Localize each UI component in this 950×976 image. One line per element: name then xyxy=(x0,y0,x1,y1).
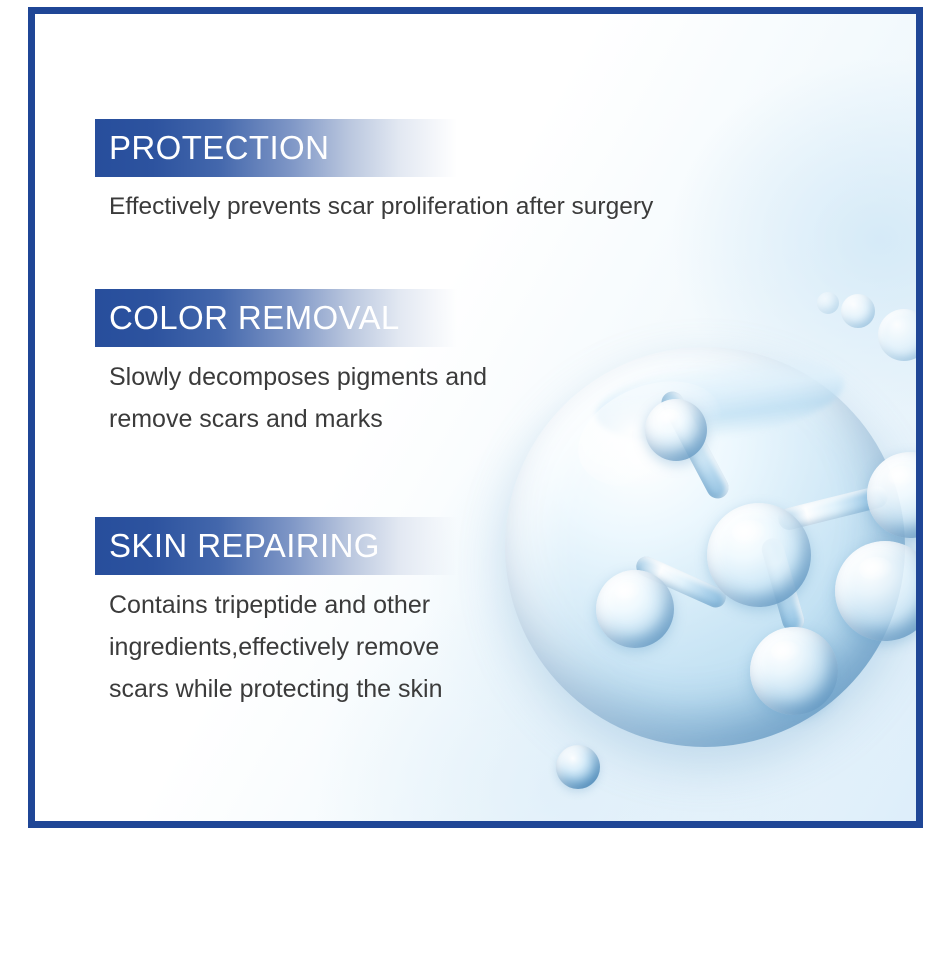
feature-body-line: Contains tripeptide and other xyxy=(109,584,457,626)
feature-heading-color-removal: COLOR REMOVAL xyxy=(95,289,457,347)
feature-item-skin-repairing: SKIN REPAIRING Contains tripeptide and o… xyxy=(95,517,457,710)
feature-heading-protection: PROTECTION xyxy=(95,119,457,177)
feature-body-line: remove scars and marks xyxy=(109,398,487,440)
feature-body-protection: Effectively prevents scar proliferation … xyxy=(95,186,529,228)
feature-body-skin-repairing: Contains tripeptide and other ingredient… xyxy=(95,584,457,710)
feature-list: PROTECTION Effectively prevents scar pro… xyxy=(35,14,916,821)
feature-body-line: scars while protecting the skin xyxy=(109,668,457,710)
feature-body-line: Slowly decomposes pigments and xyxy=(109,356,487,398)
feature-body-line: Effectively prevents scar proliferation … xyxy=(109,186,529,228)
feature-body-line: ingredients,effectively remove xyxy=(109,626,457,668)
feature-item-color-removal: COLOR REMOVAL Slowly decomposes pigments… xyxy=(95,289,487,440)
product-feature-banner: PROTECTION Effectively prevents scar pro… xyxy=(28,7,923,828)
feature-body-color-removal: Slowly decomposes pigments and remove sc… xyxy=(95,356,487,440)
feature-heading-skin-repairing: SKIN REPAIRING xyxy=(95,517,457,575)
feature-item-protection: PROTECTION Effectively prevents scar pro… xyxy=(95,119,529,228)
